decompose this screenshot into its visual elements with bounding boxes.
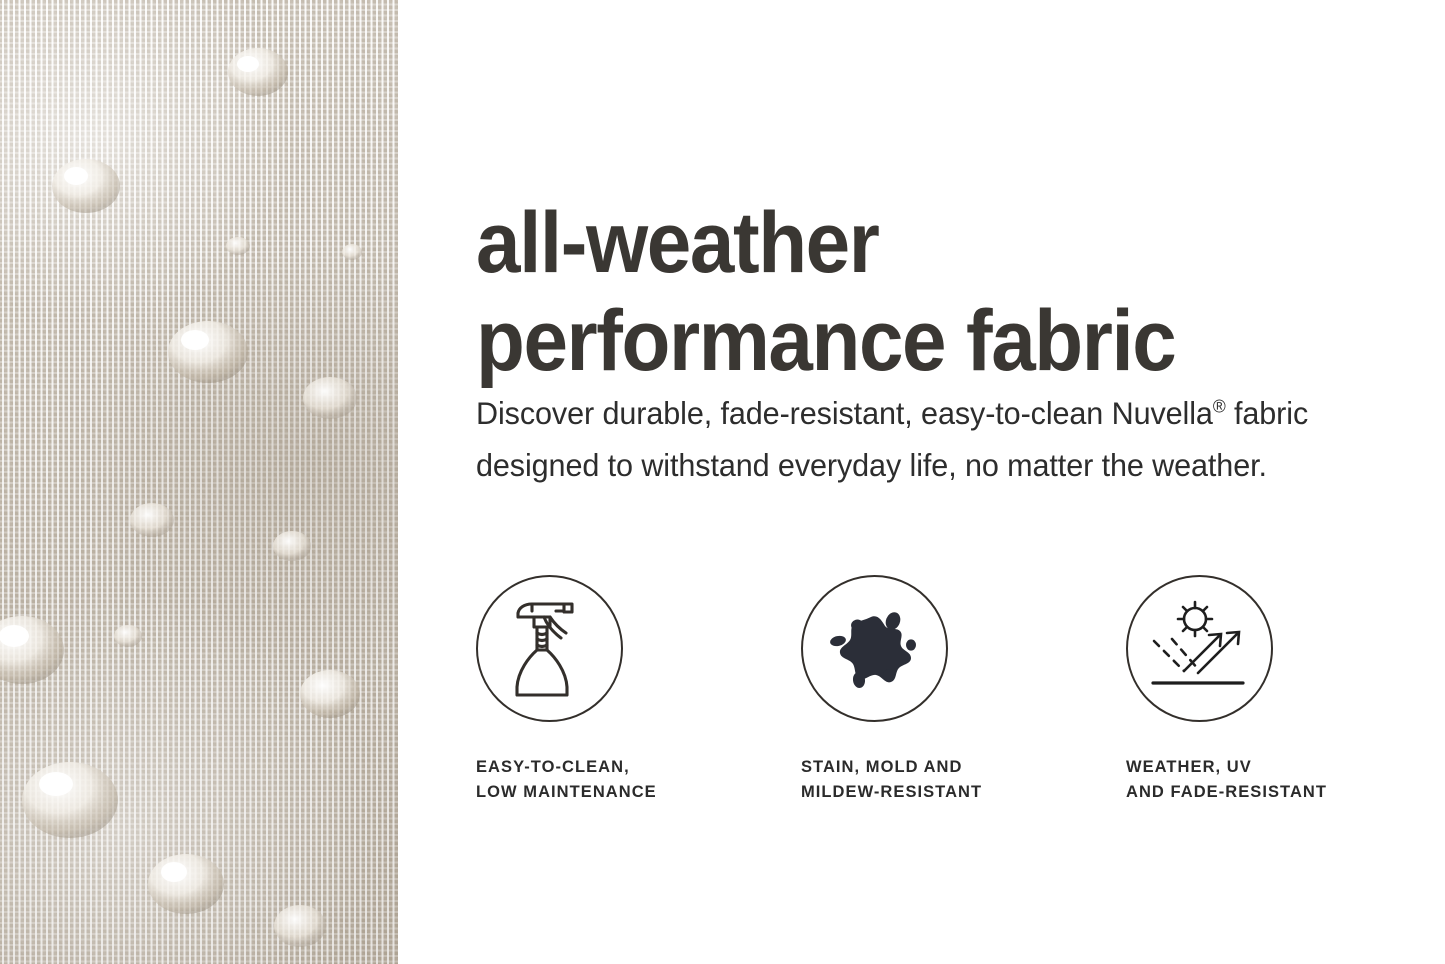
- sun-uv-reflect-icon-circle: [1126, 575, 1273, 722]
- fabric-photo-panel: [0, 0, 398, 964]
- page-title: all-weather performance fabric: [476, 194, 1332, 390]
- feature-item: EASY-TO-CLEAN, LOW MAINTENANCE: [476, 575, 801, 805]
- registered-trademark-mark: ®: [1213, 396, 1226, 416]
- feature-list: EASY-TO-CLEAN, LOW MAINTENANCE: [476, 575, 1416, 805]
- promo-banner: all-weather performance fabric Discover …: [0, 0, 1445, 964]
- stain-splat-icon-circle: [801, 575, 948, 722]
- sun-uv-reflect-icon: [1148, 599, 1252, 699]
- feature-item: WEATHER, UV AND FADE-RESISTANT: [1126, 575, 1327, 805]
- subcopy-part-1: Discover durable, fade-resistant, easy-t…: [476, 395, 1213, 431]
- feature-caption: EASY-TO-CLEAN, LOW MAINTENANCE: [476, 755, 801, 805]
- stain-splat-icon: [823, 599, 927, 699]
- spray-bottle-icon-circle: [476, 575, 623, 722]
- spray-bottle-icon: [504, 595, 596, 703]
- feature-caption: WEATHER, UV AND FADE-RESISTANT: [1126, 755, 1327, 805]
- water-droplets: [0, 0, 398, 964]
- subcopy: Discover durable, fade-resistant, easy-t…: [476, 387, 1320, 491]
- content-column: all-weather performance fabric Discover …: [476, 0, 1445, 964]
- feature-item: STAIN, MOLD AND MILDEW-RESISTANT: [801, 575, 1126, 805]
- feature-caption: STAIN, MOLD AND MILDEW-RESISTANT: [801, 755, 1126, 805]
